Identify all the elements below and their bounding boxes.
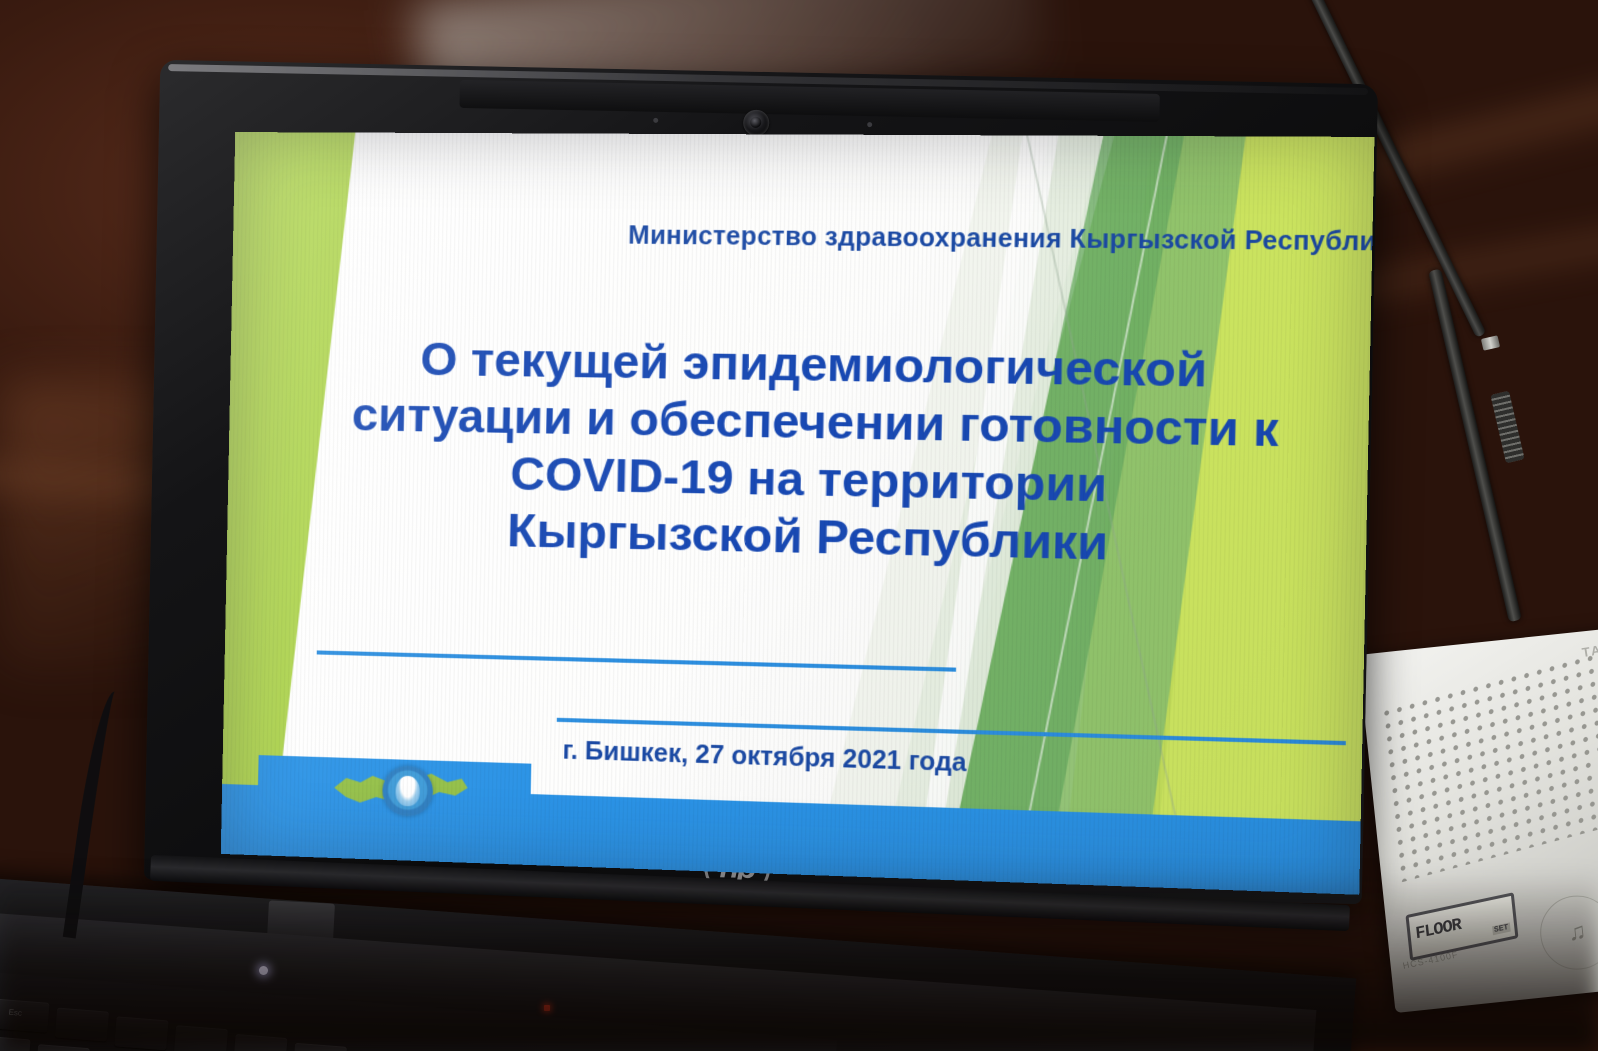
microphone-hole-icon bbox=[653, 118, 658, 123]
microphone-hole-icon bbox=[867, 122, 872, 127]
foreground-shadow bbox=[0, 871, 1598, 1051]
divider-rule-upper bbox=[317, 650, 956, 671]
laptop-screen[interactable]: Министерство здравоохранения Кыргызской … bbox=[221, 132, 1375, 895]
webcam-icon bbox=[743, 110, 770, 137]
presentation-slide: Министерство здравоохранения Кыргызской … bbox=[221, 132, 1375, 895]
slide-title: О текущей эпидемиологической ситуации и … bbox=[297, 329, 1338, 577]
organization-header: Министерство здравоохранения Кыргызской … bbox=[628, 221, 1307, 257]
scene-root: TAIDEN FLOOR SET HCS-4100F ♫ 350 hp bbox=[0, 0, 1598, 1051]
